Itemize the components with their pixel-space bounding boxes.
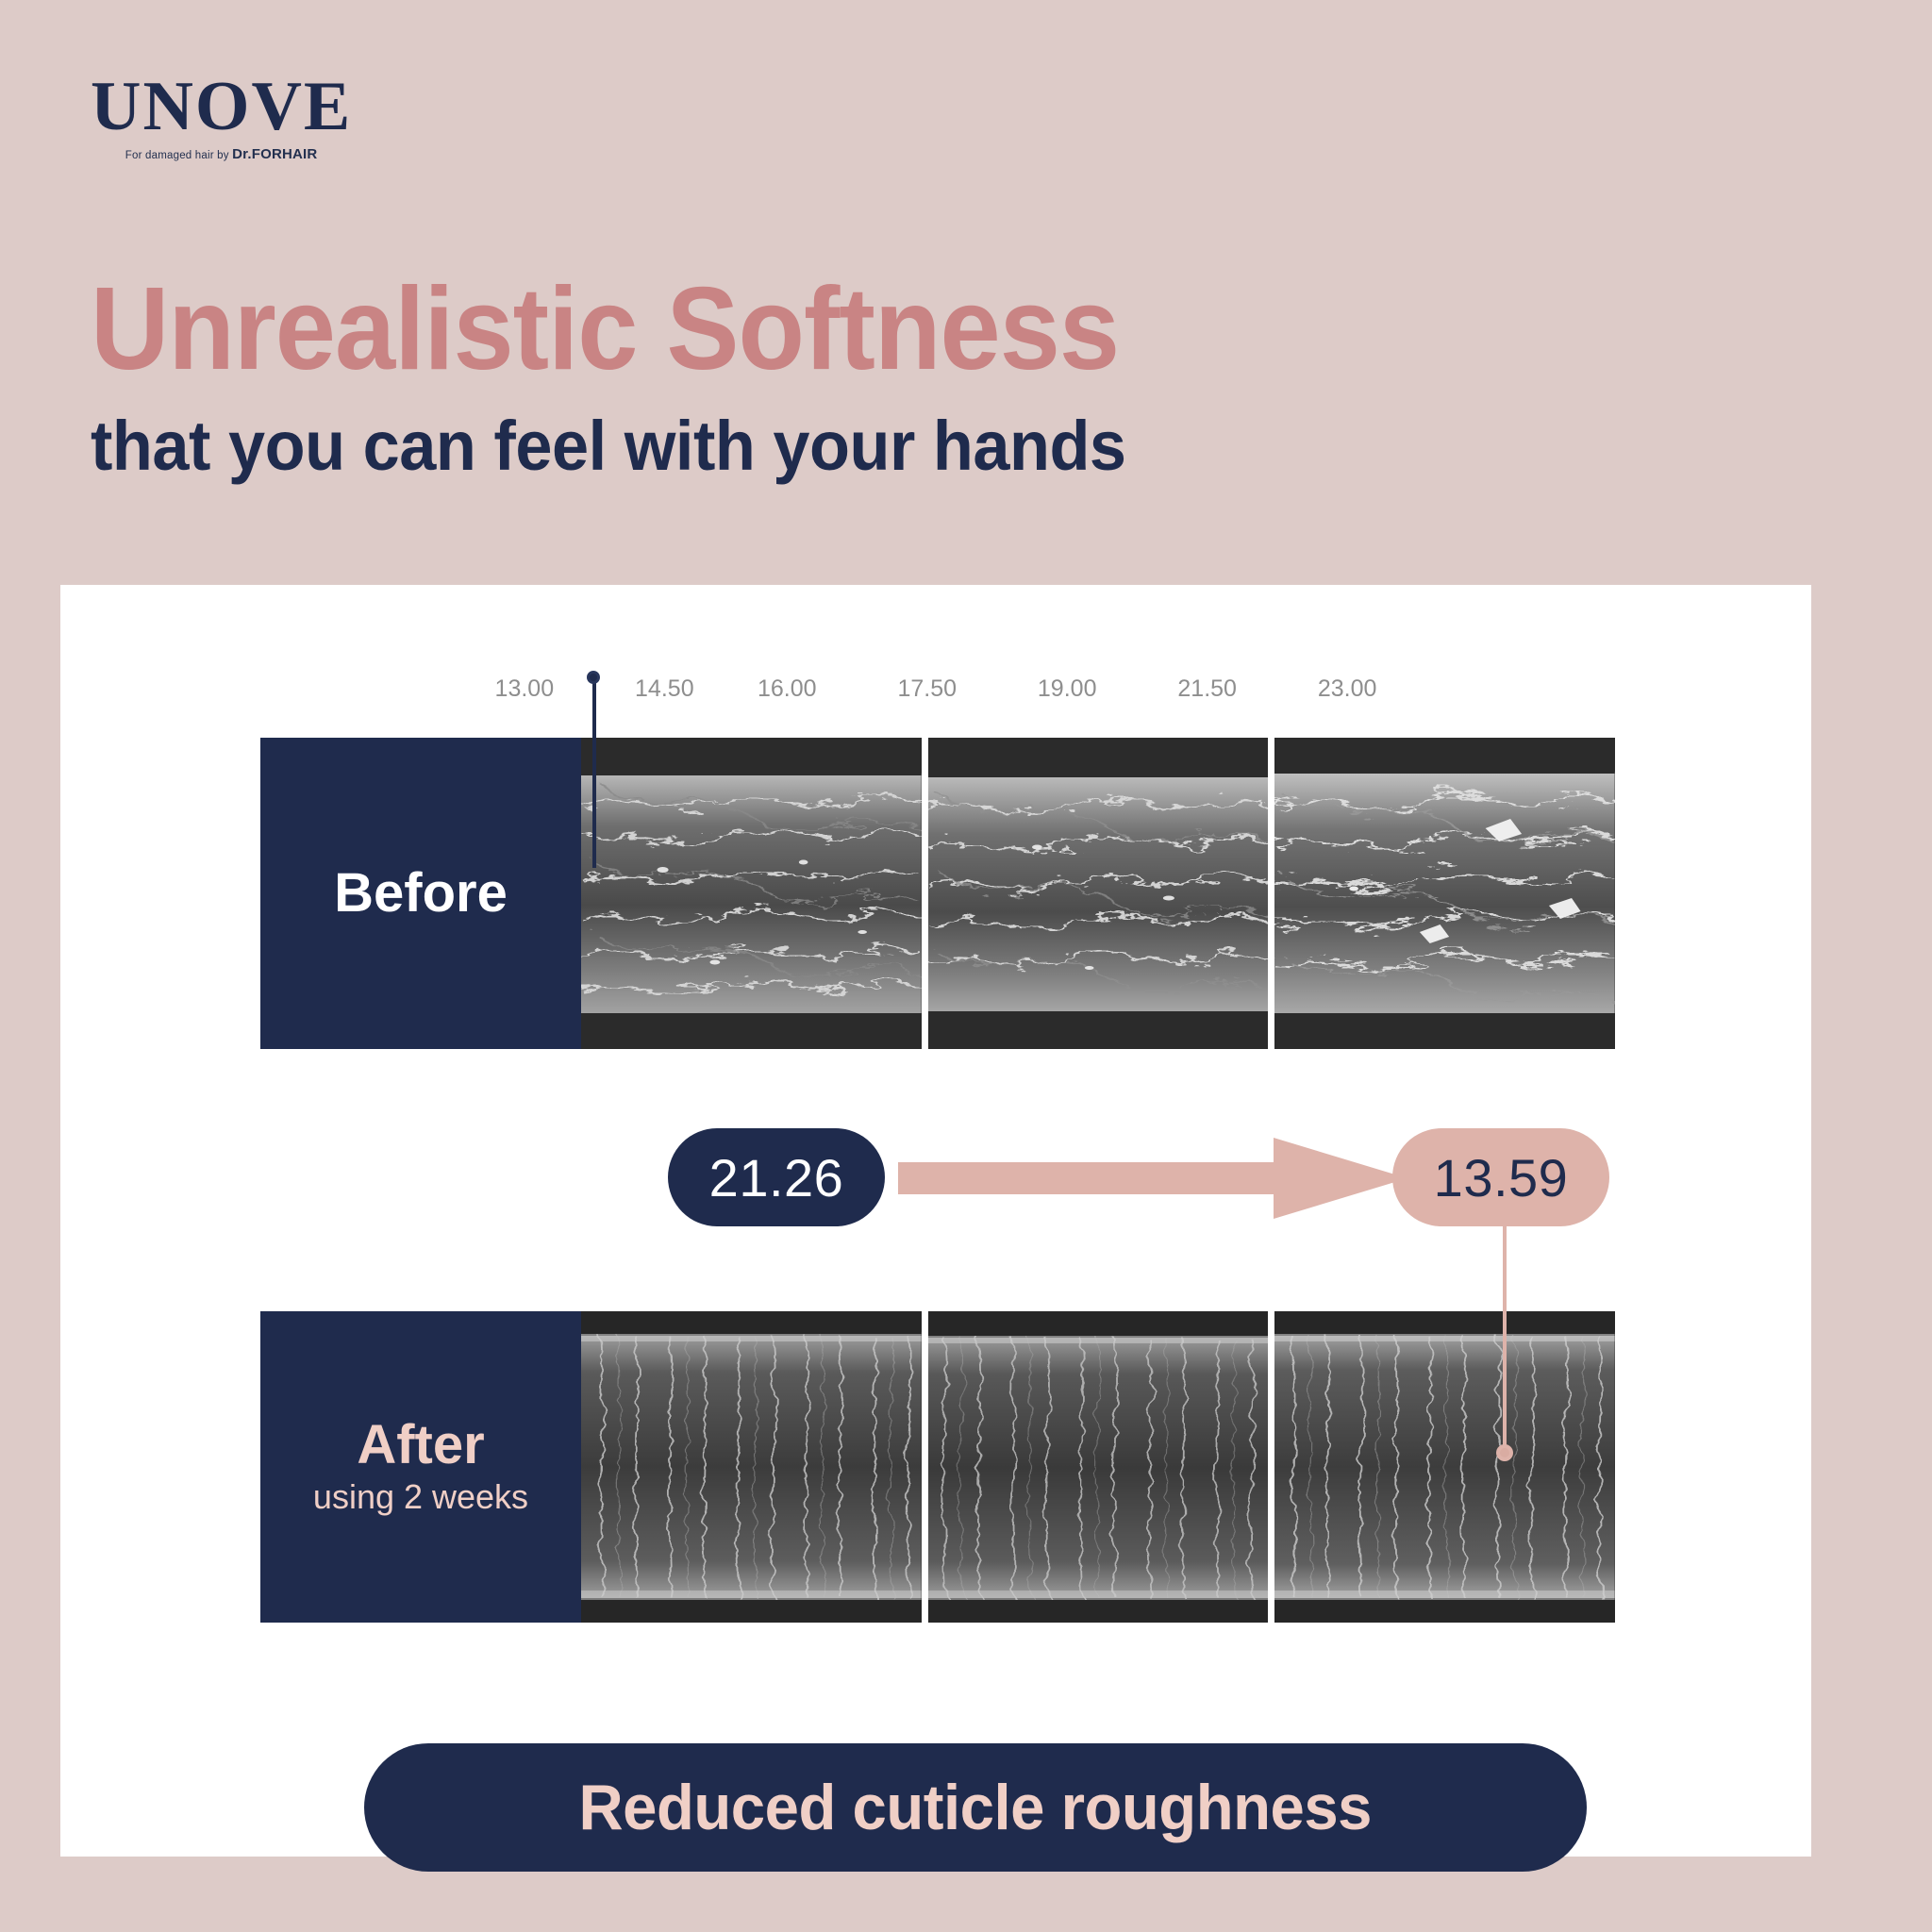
- brand-wordmark: UNOVE: [91, 74, 352, 141]
- brand-tagline-prefix: For damaged hair by: [125, 150, 232, 161]
- comparison-row-before: Before: [260, 738, 1615, 1049]
- result-banner: Reduced cuticle roughness: [364, 1743, 1587, 1872]
- comparison-row-after: After using 2 weeks: [260, 1311, 1615, 1623]
- axis-tick: 13.00: [495, 675, 555, 703]
- brand-tagline-suffix: HAIR: [282, 146, 317, 162]
- connector-line-after: [1503, 1226, 1507, 1457]
- sem-image-before-2: [928, 738, 1269, 1049]
- axis-tick: 23.00: [1318, 675, 1377, 703]
- value-pill-before: 21.26: [668, 1128, 885, 1226]
- decrease-arrow-icon: [898, 1138, 1407, 1219]
- brand-tagline: For damaged hair by Dr.FORHAIR: [91, 146, 352, 162]
- row-sublabel-after-text: using 2 weeks: [313, 1477, 528, 1517]
- row-label-before: Before: [260, 738, 581, 1049]
- axis-tick-row: 13.00 14.50 16.00 17.50 19.00 21.50 23.0…: [60, 675, 1811, 713]
- data-marker-after: [1496, 1444, 1513, 1461]
- row-label-after: After using 2 weeks: [260, 1311, 581, 1623]
- sem-image-before-3: [1274, 738, 1615, 1049]
- axis-tick: 17.50: [897, 675, 957, 703]
- axis-tick: 19.00: [1038, 675, 1097, 703]
- data-marker-before: [587, 671, 600, 684]
- brand-tagline-bold: Dr.FOR: [232, 146, 282, 162]
- result-banner-text: Reduced cuticle roughness: [579, 1771, 1372, 1844]
- row-label-after-text: After: [357, 1417, 484, 1474]
- sem-image-before-1: [581, 738, 922, 1049]
- sem-image-after-3: [1274, 1311, 1615, 1623]
- sem-strip-before: [581, 738, 1615, 1049]
- page-subtitle: that you can feel with your hands: [91, 406, 1126, 486]
- value-pill-after: 13.59: [1392, 1128, 1609, 1226]
- axis-tick: 14.50: [635, 675, 694, 703]
- connector-line-before: [592, 681, 596, 868]
- sem-image-after-2: [928, 1311, 1269, 1623]
- sem-image-after-1: [581, 1311, 922, 1623]
- brand-logo: UNOVE For damaged hair by Dr.FORHAIR: [91, 74, 352, 162]
- axis-tick: 16.00: [758, 675, 817, 703]
- page-title: Unrealistic Softness: [91, 262, 1119, 396]
- axis-tick: 21.50: [1177, 675, 1237, 703]
- row-label-before-text: Before: [334, 865, 508, 923]
- sem-strip-after: [581, 1311, 1615, 1623]
